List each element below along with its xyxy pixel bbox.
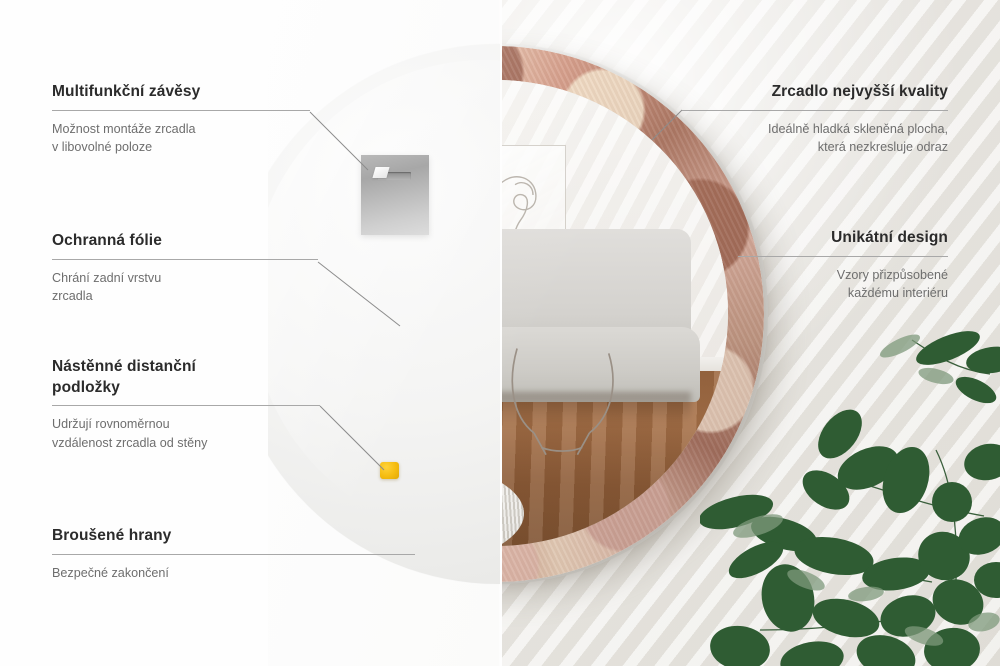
green-leaves	[700, 330, 1000, 666]
callout-description: Udržují rovnoměrnou vzdálenost zrcadla o…	[52, 415, 320, 452]
callout-rule	[52, 405, 320, 406]
callout-rule	[738, 256, 948, 257]
callout-nastenne-distancni-podlozky: Nástěnné distanční podložky Udržují rovn…	[52, 357, 320, 452]
callout-title: Ochranná fólie	[52, 231, 318, 252]
callout-rule	[52, 110, 310, 111]
callout-unikatni-design: Unikátní design Vzory přizpůsobené každé…	[738, 228, 948, 303]
callout-description: Chrání zadní vrstvu zrcadla	[52, 269, 318, 306]
callout-multifunkcni-zavesy: Multifunkční závěsy Možnost montáže zrca…	[52, 82, 310, 157]
callout-description: Ideálně hladká skleněná plocha, která ne…	[682, 120, 948, 157]
callout-title: Zrcadlo nejvyšší kvality	[682, 82, 948, 103]
callout-brousene-hrany: Broušené hrany Bezpečné zakončení	[52, 526, 415, 582]
callout-description: Vzory přizpůsobené každému interiéru	[738, 266, 948, 303]
callout-rule	[52, 259, 318, 260]
reflected-wire-chair	[505, 341, 626, 462]
hanger-plate	[361, 155, 429, 235]
callout-title: Unikátní design	[738, 228, 948, 249]
mirror-left-crop-mask	[500, 0, 502, 666]
callout-title: Multifunkční závěsy	[52, 82, 310, 103]
callout-description: Bezpečné zakončení	[52, 564, 415, 583]
callout-title: Broušené hrany	[52, 526, 415, 547]
callout-description: Možnost montáže zrcadla v libovolné polo…	[52, 120, 310, 157]
callout-rule	[52, 554, 415, 555]
callout-title: Nástěnné distanční podložky	[52, 357, 320, 398]
yellow-spacer-pad	[380, 462, 399, 479]
callout-ochranna-folie: Ochranná fólie Chrání zadní vrstvu zrcad…	[52, 231, 318, 306]
infographic-canvas: Multifunkční závěsy Možnost montáže zrca…	[0, 0, 1000, 666]
callout-rule	[682, 110, 948, 111]
callout-zrcadlo-nejvyssi-kvality: Zrcadlo nejvyšší kvality Ideálně hladká …	[682, 82, 948, 157]
